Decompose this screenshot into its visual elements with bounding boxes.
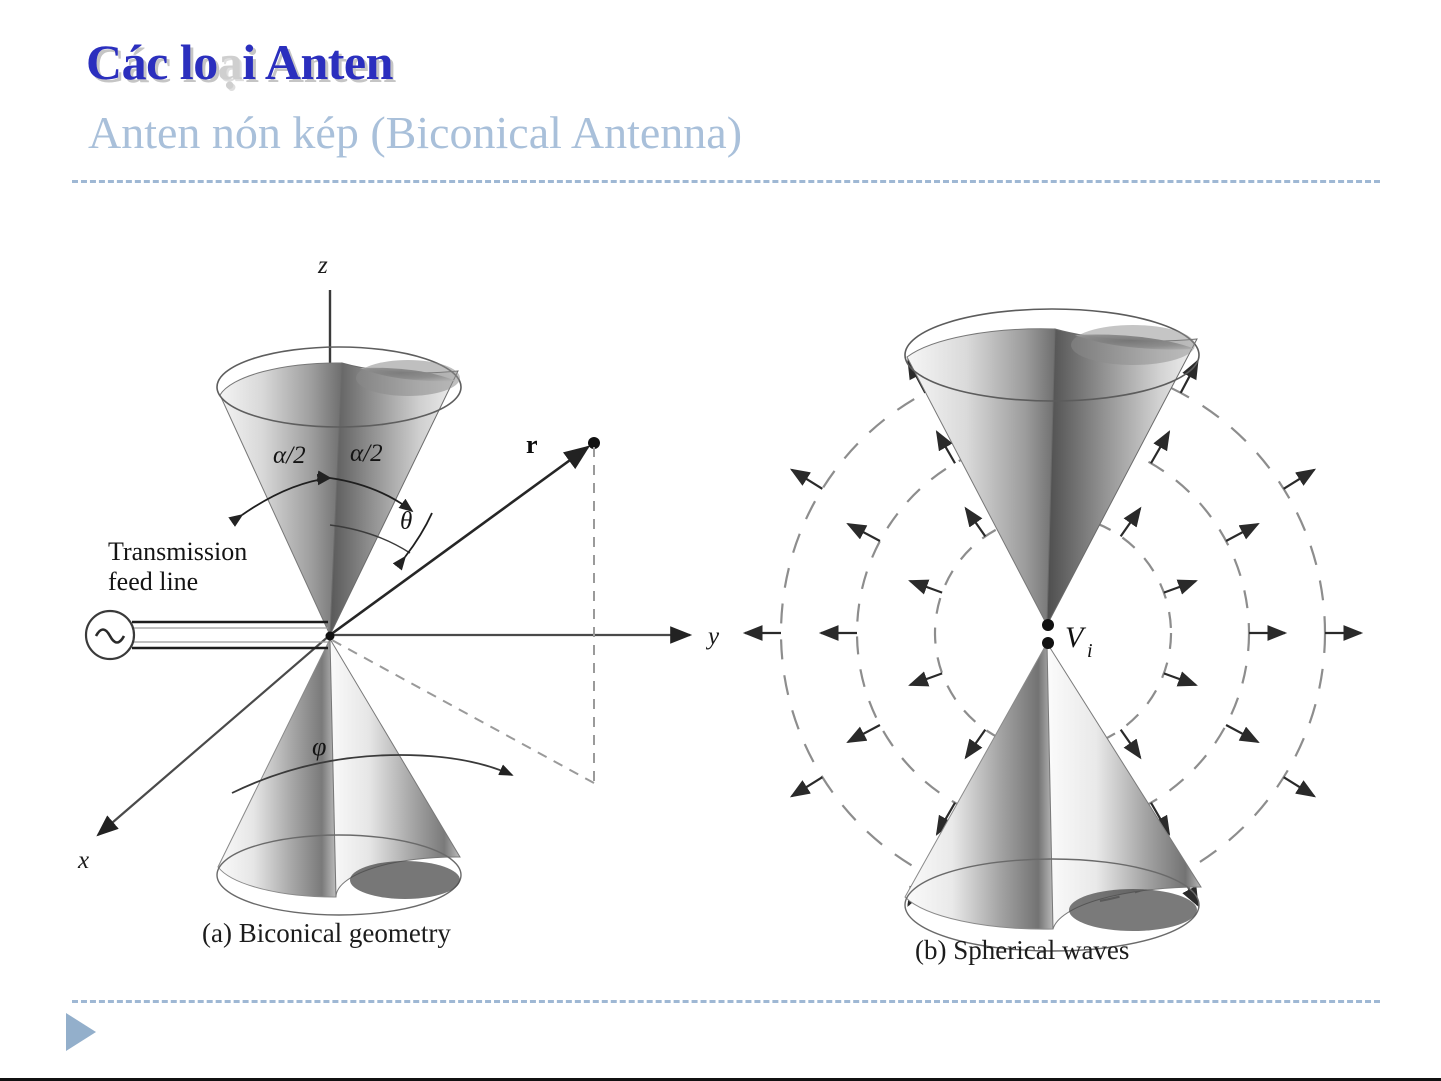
feed-line-label-line2: feed line [108, 567, 198, 596]
upper-cone [217, 347, 461, 635]
y-axis-label: y [705, 623, 720, 650]
page-title-part-1: Các lo [86, 34, 218, 90]
figure-a-caption: (a) Biconical geometry [202, 918, 451, 949]
ac-source-icon [96, 630, 124, 643]
next-slide-triangle-icon[interactable] [66, 1013, 96, 1051]
origin-point [326, 632, 335, 641]
figure-biconical-geometry: z α/2 α/2 [60, 235, 760, 955]
alpha-half-right-label: α/2 [350, 440, 383, 467]
voltage-subscript-label: i [1087, 640, 1093, 662]
transmission-feed-line: Transmission feed line [86, 537, 328, 659]
figure-spherical-waves: V i [735, 285, 1415, 985]
slide-canvas: Các loại Anten Anten nón kép (Biconical … [0, 0, 1441, 1081]
r-vector-label: r [526, 430, 538, 459]
header-divider [72, 180, 1380, 183]
y-axis: y [330, 623, 720, 650]
page-title-missing-glyph: ạ [218, 34, 243, 90]
theta-label: θ [400, 508, 412, 535]
page-title: Các loại Anten [86, 33, 393, 91]
alpha-half-left-label: α/2 [273, 442, 306, 469]
page-title-part-2: i Anten [242, 34, 393, 90]
z-axis-label: z [317, 252, 328, 279]
figure-b-caption: (b) Spherical waves [915, 935, 1129, 966]
voltage-label: V [1065, 621, 1087, 654]
feed-line-label-line1: Transmission [108, 537, 247, 566]
phi-label: φ [312, 732, 326, 761]
page-subtitle: Anten nón kép (Biconical Antenna) [88, 106, 742, 160]
x-axis-label: x [77, 847, 89, 874]
footer-divider [72, 1000, 1380, 1003]
lower-cone [217, 639, 461, 915]
